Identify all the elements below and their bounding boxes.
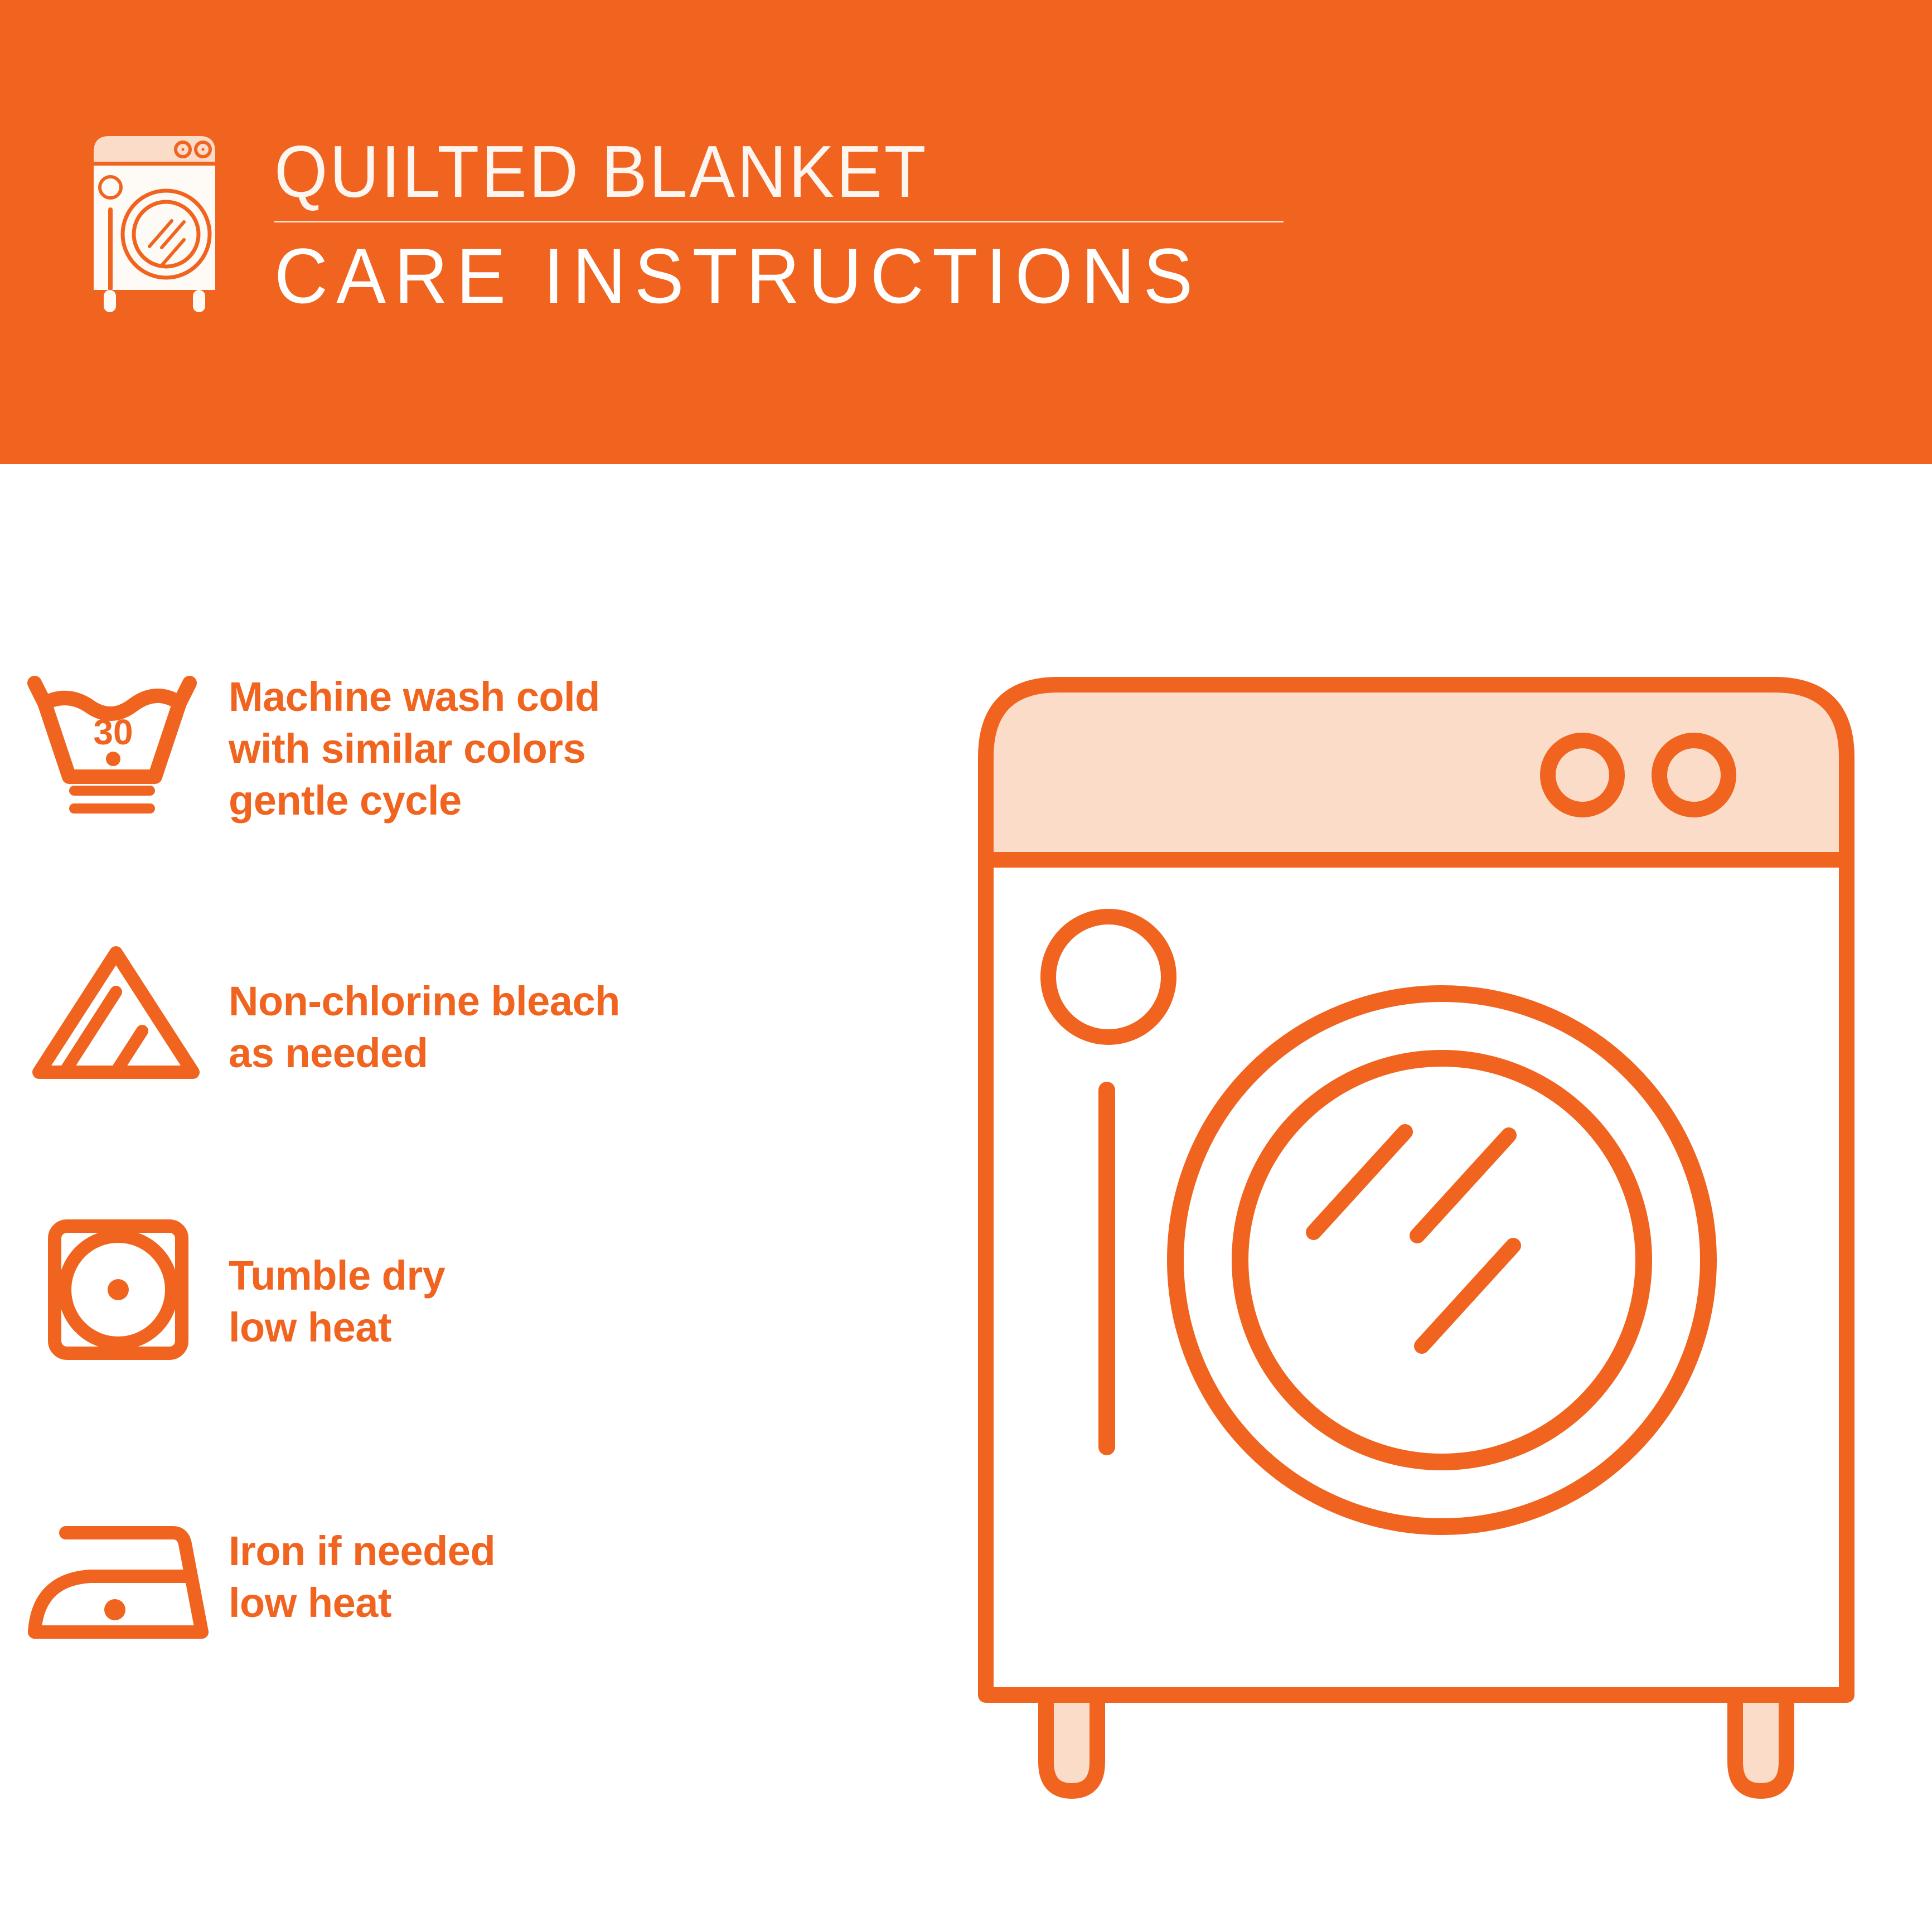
header-title-group: QUILTED BLANKET CARE INSTRUCTIONS [274, 129, 1284, 315]
list-item-label: Iron if needed low heat [229, 1480, 495, 1629]
non-chlorine-bleach-triangle-icon [0, 923, 229, 1087]
care-instructions-list: 30 Machine wash cold with similar colors… [0, 644, 948, 1759]
page-title: QUILTED BLANKET [274, 135, 1213, 209]
list-item: Iron if needed low heat [0, 1480, 948, 1759]
list-item-label: Non-chlorine bleach as needed [229, 923, 620, 1079]
leg-left [1046, 1695, 1097, 1791]
list-item-label: Machine wash cold with similar colors ge… [229, 644, 600, 827]
title-divider [274, 221, 1284, 222]
page-subtitle: CARE INSTRUCTIONS [274, 237, 1233, 315]
svg-text:30: 30 [93, 712, 133, 752]
tumble-dry-low-heat-icon [0, 1202, 229, 1367]
knob-right [1659, 740, 1728, 810]
list-item: 30 Machine wash cold with similar colors… [0, 644, 948, 923]
knob-left [1548, 740, 1617, 810]
list-item-label: Tumble dry low heat [229, 1202, 445, 1353]
list-item: Non-chlorine bleach as needed [0, 923, 948, 1202]
care-instructions-poster: QUILTED BLANKET CARE INSTRUCTIONS 30 Mac… [0, 0, 1932, 1932]
header-content: QUILTED BLANKET CARE INSTRUCTIONS [84, 129, 1284, 319]
leg-right [1735, 1695, 1786, 1791]
status-bar [1098, 1082, 1115, 1455]
iron-low-heat-icon [0, 1480, 229, 1664]
large-washing-machine-illustration [959, 641, 1873, 1846]
poster-header: QUILTED BLANKET CARE INSTRUCTIONS [0, 0, 1932, 464]
washing-machine-icon [84, 129, 245, 319]
wash-tub-30-gentle-icon: 30 [0, 644, 229, 821]
list-item: Tumble dry low heat [0, 1202, 948, 1480]
